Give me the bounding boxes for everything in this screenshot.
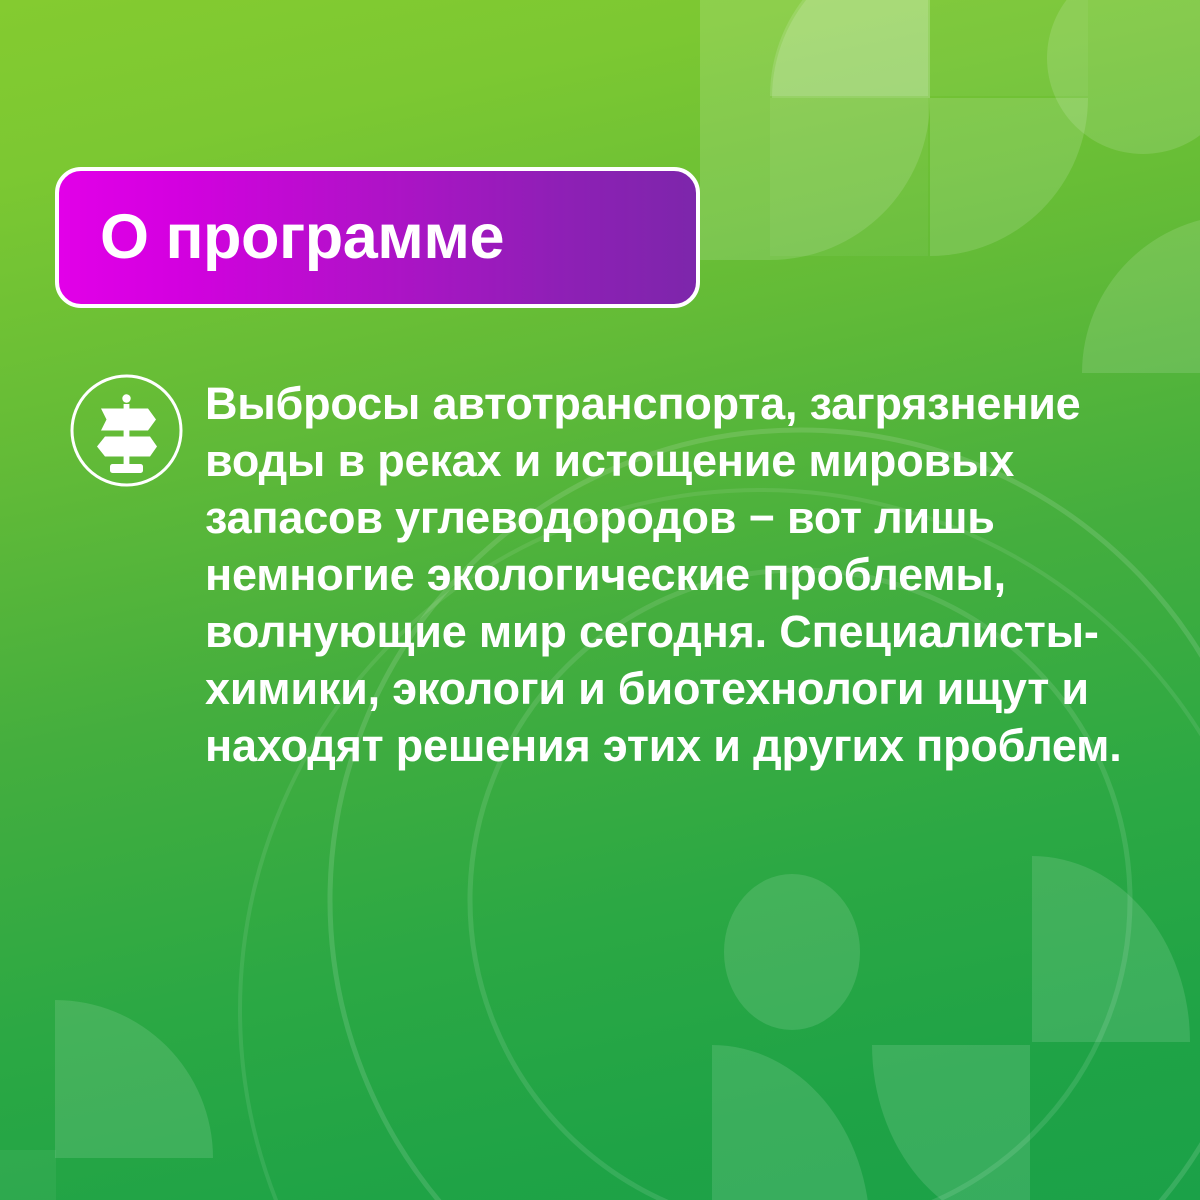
body-paragraph: Выбросы автотранспорта, загрязнение воды…	[205, 374, 1130, 774]
square-shape	[0, 1150, 56, 1200]
quarter-circle-shape	[930, 98, 1088, 256]
quarter-circle-shape	[712, 1045, 870, 1200]
quarter-circle-shape	[872, 1045, 1030, 1200]
square-shape	[770, 98, 928, 256]
page-title: О программе	[100, 206, 504, 269]
circle-shape	[1047, 0, 1200, 154]
title-badge: О программе	[55, 167, 700, 308]
quarter-circle-shape	[55, 1000, 213, 1158]
quarter-circle-shape	[772, 0, 930, 98]
quarter-circle-shape	[700, 0, 930, 260]
square-shape	[930, 0, 1088, 96]
about-program-slide: О программе Выбросы автотранспорта, загр…	[0, 0, 1200, 1200]
signpost-icon	[70, 374, 183, 487]
quarter-circle-shape	[1082, 215, 1200, 373]
quarter-circle-shape	[1032, 856, 1190, 1042]
quarter-circle-shape	[770, 0, 928, 96]
circle-shape	[724, 874, 860, 1030]
content-row: Выбросы автотранспорта, загрязнение воды…	[0, 374, 1200, 774]
quarter-circle-shape	[770, 0, 928, 98]
